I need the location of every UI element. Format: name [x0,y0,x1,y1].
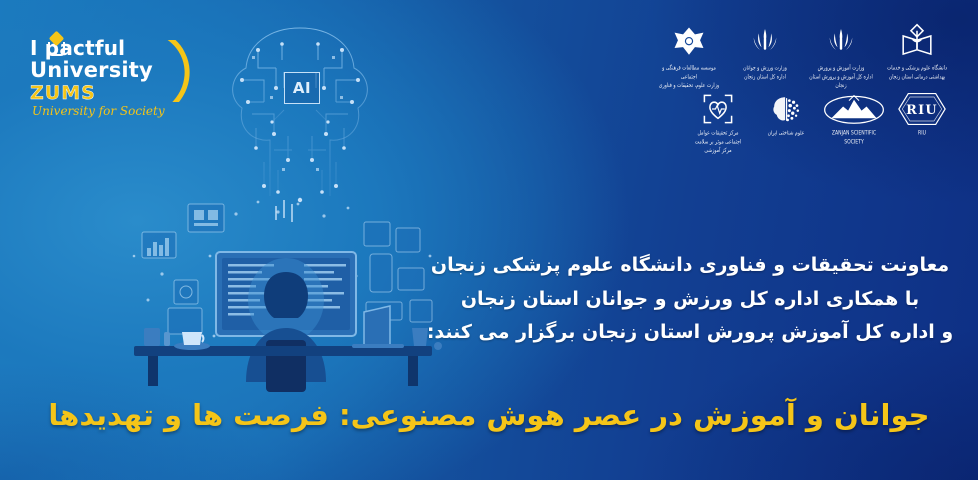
ai-chip-label: AI [284,72,320,104]
zums-logo: I pactful University ZUMS University for… [26,34,196,120]
organizer-copy: معاونت تحقیقات و فناوری دانشگاه علوم پزش… [420,252,960,353]
square-heart-emblem-icon [687,91,749,127]
brand-tagline: University for Society [32,104,165,118]
dotted-brain-emblem-icon [755,91,817,127]
partner-ministry-education: وزارت آموزش و پرورش اداره کل آموزش و پرو… [804,22,878,85]
partner-caption: دانشگاه علوم پزشکی و خدمات بهداشتی درمان… [880,62,954,82]
open-book-emblem-icon [880,22,954,62]
partner-ministry-sport-youth: وزارت ورزش و جوانان اداره کل استان زنجان [728,22,802,85]
partner-caption: علوم شناختی ایران [755,127,817,138]
partner-caption: RIU [891,127,953,138]
event-headline: جوانان و آموزش در عصر هوش مصنوعی: فرصت ه… [0,398,978,432]
ai-circuit-brain-graphic: AI [212,10,387,210]
brand-line-2: University [30,60,153,81]
partner-row-1: موسسه مطالعات فرهنگی و اجتماعی وزارت علو… [652,22,972,85]
hexagon-badge-icon: RIU [891,91,953,127]
mountain-oval-emblem-icon [823,91,885,127]
brand-line-1: I pactful [30,38,125,58]
partner-caption: مرکز تحقیقات عوامل اجتماعی موثر بر سلامت… [687,127,749,156]
partner-caption: وزارت آموزش و پرورش اداره کل آموزش و پرو… [804,62,878,91]
brand-acronym: ZUMS [30,84,96,103]
partner-institute-cultural-social-studies: موسسه مطالعات فرهنگی و اجتماعی وزارت علو… [652,22,726,85]
partner-health-research-center: مرکز تحقیقات عوامل اجتماعی موثر بر سلامت… [687,91,749,150]
poster-canvas: I pactful University ZUMS University for… [0,0,978,480]
zums-shield-emblem-icon [46,33,68,57]
organizer-line-1: معاونت تحقیقات و فناوری دانشگاه علوم پزش… [420,252,960,280]
partner-caption: موسسه مطالعات فرهنگی و اجتماعی وزارت علو… [652,62,726,91]
partner-zanjan-university-medical-sciences: دانشگاه علوم پزشکی و خدمات بهداشتی درمان… [880,22,954,85]
partner-iran-cognitive-sciences: علوم شناختی ایران [755,91,817,150]
partner-caption: ZANJAN SCIENTIFIC SOCIETY [823,127,885,147]
partner-riu: RIU RIU [891,91,953,150]
organizer-line-3: و اداره کل آموزش پرورش استان زنجان برگزا… [420,319,960,347]
organizer-line-2: با همکاری اداره کل ورزش و جوانان استان ز… [420,286,960,314]
partner-zanjan-scientific-society: ZANJAN SCIENTIFIC SOCIETY [823,91,885,150]
svg-text:RIU: RIU [906,103,938,118]
iran-emblem-icon [728,22,802,62]
desk-illustration [118,196,448,392]
partner-logos: موسسه مطالعات فرهنگی و اجتماعی وزارت علو… [652,22,972,151]
iran-emblem-icon [804,22,878,62]
partner-row-2: مرکز تحقیقات عوامل اجتماعی موثر بر سلامت… [652,91,972,150]
partner-caption: وزارت ورزش و جوانان اداره کل استان زنجان [728,62,802,82]
starburst-emblem-icon [652,22,726,62]
